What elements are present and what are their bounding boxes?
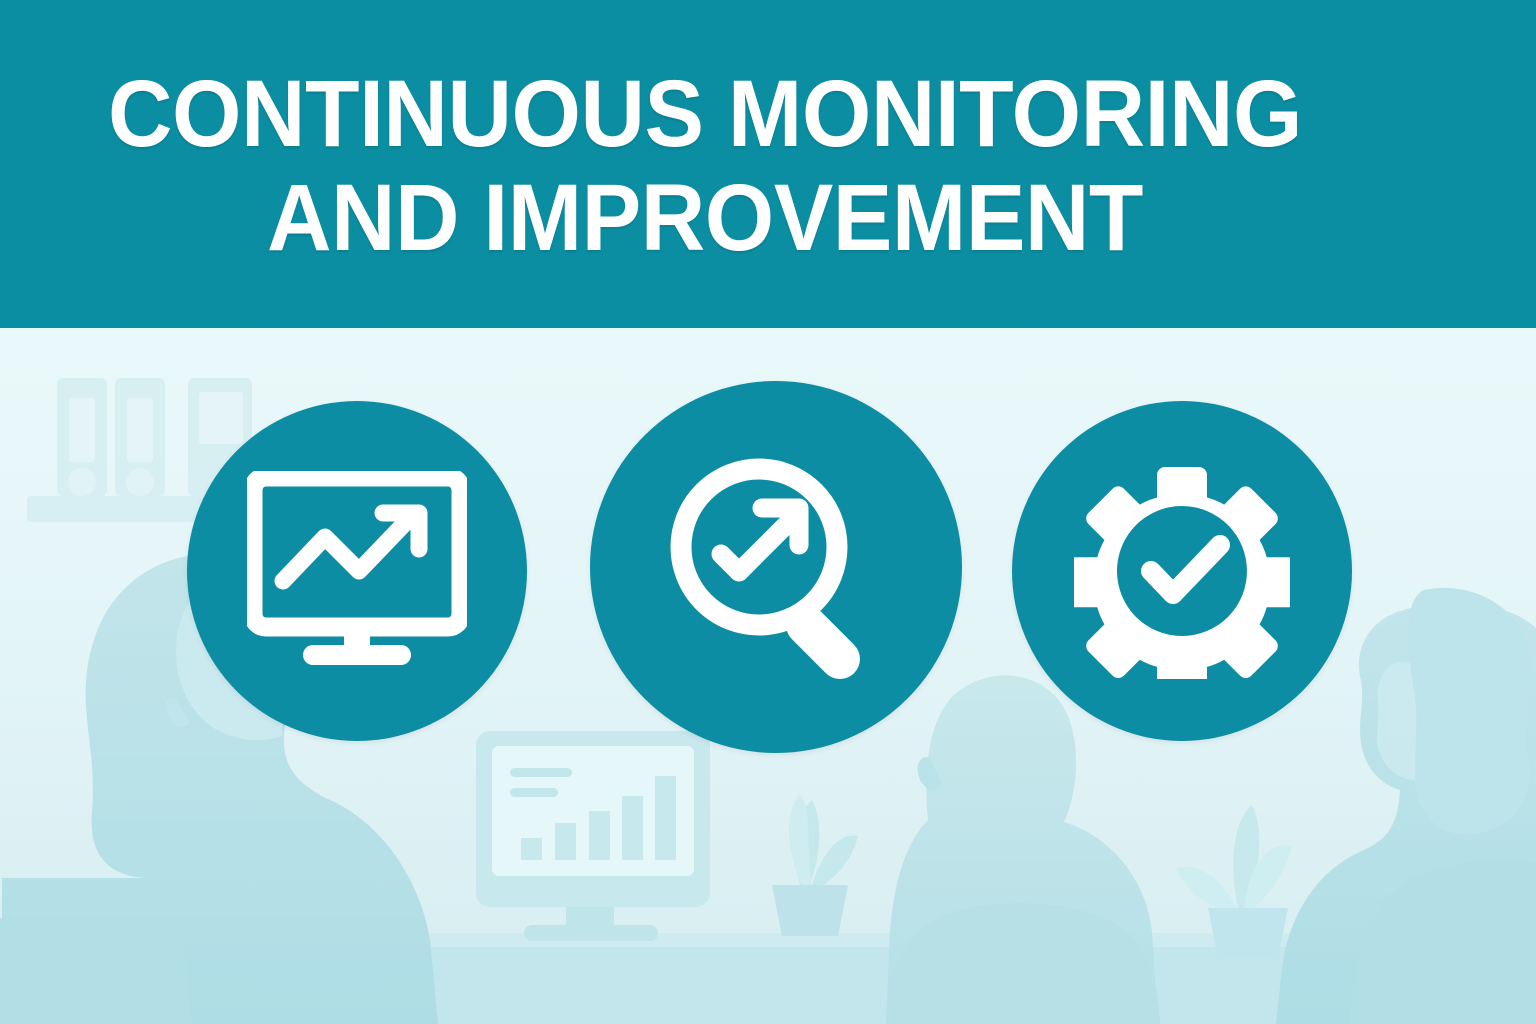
checkmark [1151,545,1220,594]
plant-pot [772,885,848,936]
screen-text-line-1 [510,768,572,777]
bar-1 [521,838,542,860]
bar-3 [589,811,610,860]
desk-monitor-base [524,925,658,941]
monitor-growth-chart-badge[interactable] [187,401,527,741]
trend-check-stroke [721,518,793,572]
monitor-frame [253,477,461,627]
gear-checkmark-badge[interactable] [1012,401,1352,741]
binder-1-label [69,398,95,462]
binder-2-ring [126,468,154,496]
plant-right-pot [1208,908,1288,958]
monitor-growth-chart-icon [247,471,467,671]
magnifier-trend-arrow-badge[interactable] [590,381,962,753]
page-title: CONTINUOUS MONITORING AND IMPROVEMENT [42,62,1367,270]
chart-trend-line [283,521,407,581]
bar-5 [655,776,676,860]
bar-2 [555,823,576,860]
gear-checkmark-icon [1074,463,1290,679]
poster-canvas: CONTINUOUS MONITORING AND IMPROVEMENT [0,0,1536,1024]
binder-3-label [199,392,243,444]
right-person-hair-volume [1408,588,1531,835]
header-banner: CONTINUOUS MONITORING AND IMPROVEMENT [0,0,1536,328]
bar-4 [622,796,643,860]
screen-text-line-2 [510,788,558,797]
binder-1-ring [68,468,96,496]
left-person-chair [0,918,192,1024]
binder-2-label [127,398,153,462]
magnifier-trend-arrow-icon [661,452,891,682]
monitor-base [303,645,411,665]
